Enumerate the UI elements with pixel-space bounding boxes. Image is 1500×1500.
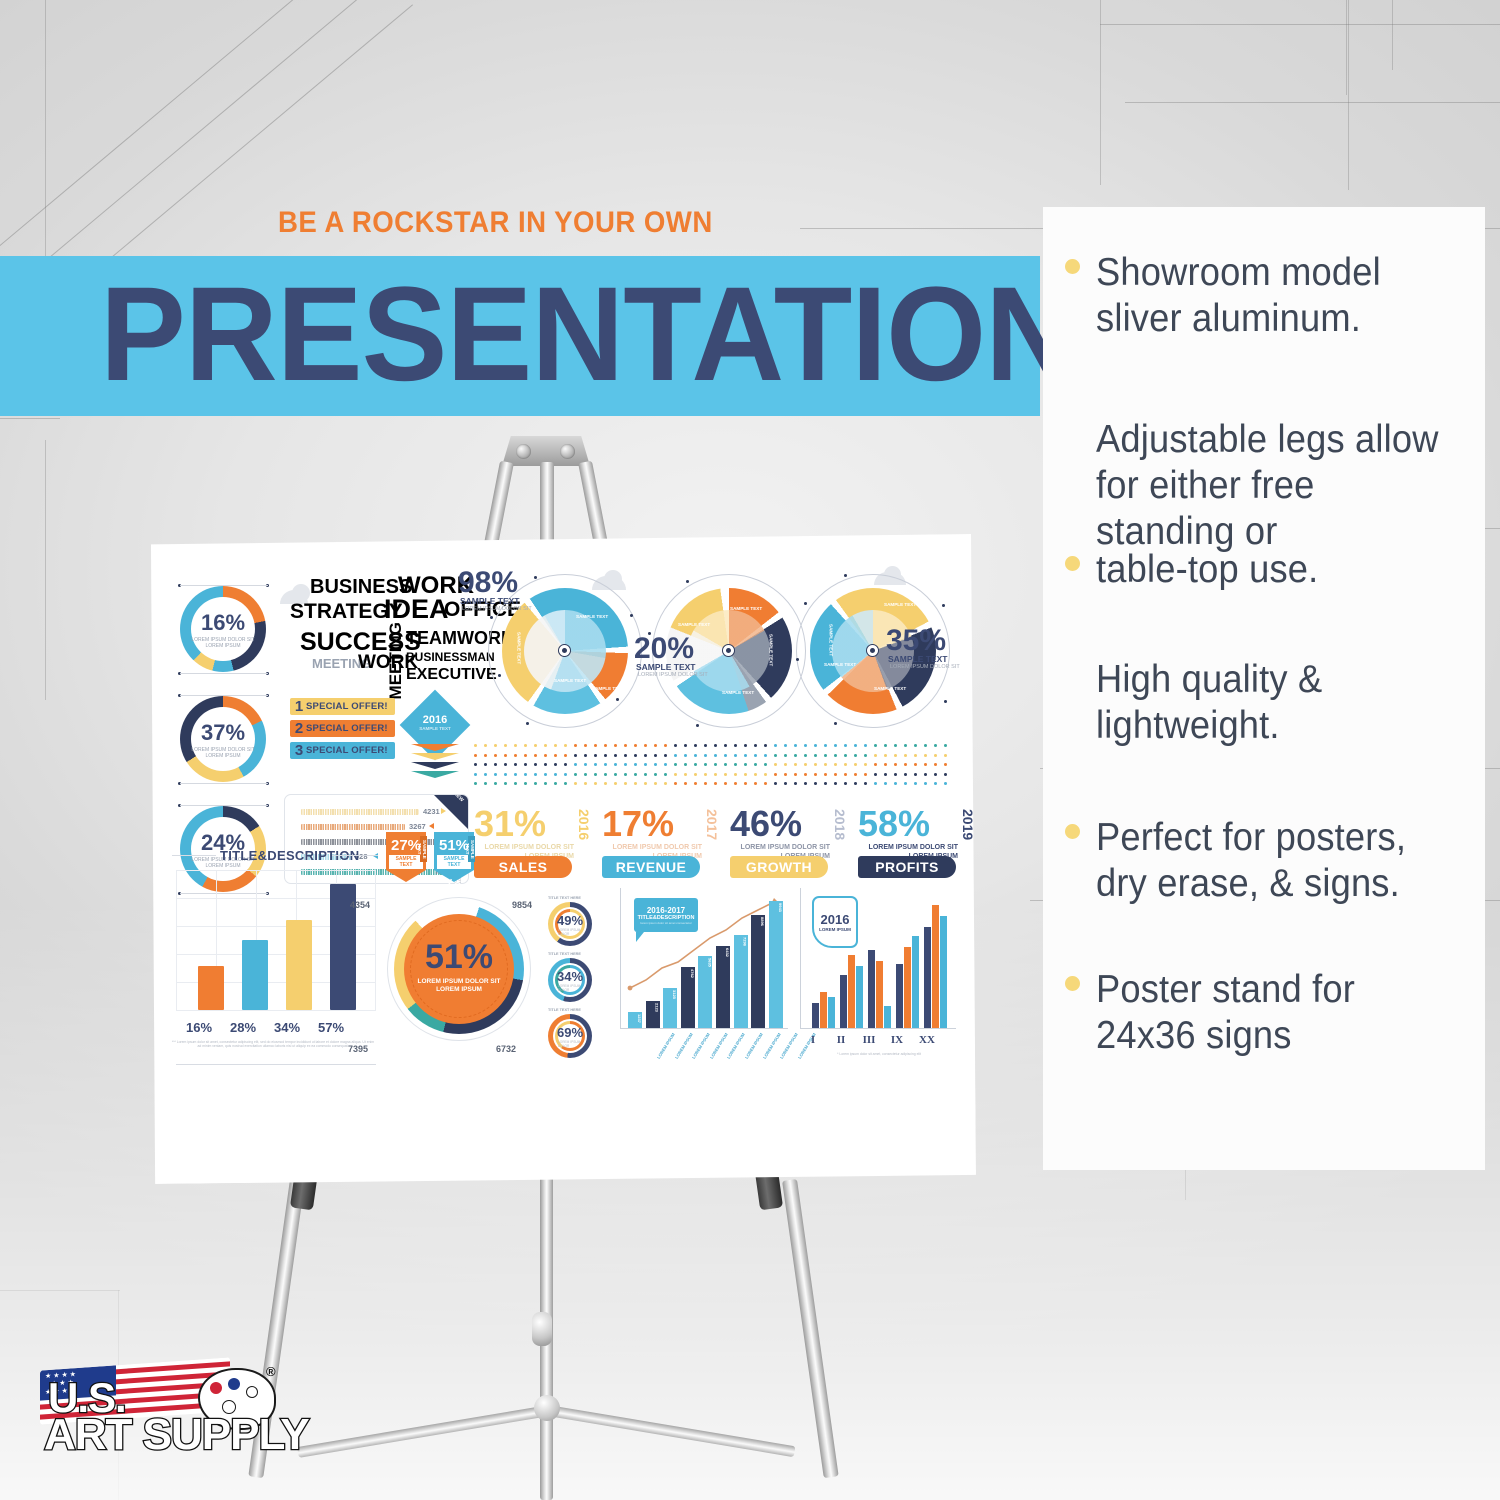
bar (840, 975, 847, 1028)
hbar-value: 3267 (409, 822, 426, 831)
matrix-dot (894, 782, 897, 785)
matrix-dot (594, 782, 597, 785)
matrix-dot (564, 754, 567, 757)
matrix-dot (784, 782, 787, 785)
matrix-dot (574, 782, 577, 785)
matrix-dot (754, 782, 757, 785)
matrix-dot (814, 754, 817, 757)
matrix-dot (814, 744, 817, 747)
donut-gauge: 16% LOREM IPSUM DOLOR SIT LOREM IPSUM (180, 586, 266, 672)
matrix-dot (784, 754, 787, 757)
radial-hub-icon (722, 644, 735, 657)
matrix-dot (824, 782, 827, 785)
matrix-dot (484, 773, 487, 776)
matrix-dot (904, 763, 907, 766)
matrix-dot (774, 754, 777, 757)
bar: 4762 (681, 967, 695, 1028)
bar: 9943 (769, 901, 783, 1028)
matrix-dot (654, 754, 657, 757)
matrix-dot (634, 744, 637, 747)
matrix-dot (904, 754, 907, 757)
matrix-dot (474, 773, 477, 776)
matrix-dot (924, 773, 927, 776)
offer-label: SPECIAL OFFER! (306, 701, 388, 712)
axis-tick: I (802, 1034, 824, 1046)
matrix-dot (494, 754, 497, 757)
bullet-dot-icon (1065, 824, 1080, 839)
matrix-dot (674, 782, 677, 785)
mini-badge-value: 69% (557, 1025, 583, 1040)
bar-label: 57% (312, 1020, 350, 1035)
matrix-dot (544, 754, 547, 757)
matrix-dot (944, 744, 947, 747)
matrix-dot (834, 782, 837, 785)
matrix-dot (884, 744, 887, 747)
matrix-dot (944, 782, 947, 785)
matrix-dot (634, 773, 637, 776)
matrix-dot (494, 782, 497, 785)
bar: 7298 (734, 935, 748, 1028)
matrix-dot (544, 763, 547, 766)
matrix-dot (794, 763, 797, 766)
matrix-dot (754, 744, 757, 747)
circle-51-corner-value: 9854 (512, 900, 532, 910)
matrix-dot (564, 744, 567, 747)
matrix-dot (484, 754, 487, 757)
registered-mark: ® (266, 1364, 276, 1379)
wordcloud-term: IDEA (384, 594, 449, 625)
year-stat-block: 46% 2018 LOREM IPSUM DOLOR SIT LOREM IPS… (730, 806, 850, 861)
matrix-dot (584, 754, 587, 757)
matrix-dot (874, 744, 877, 747)
matrix-dot (654, 744, 657, 747)
slice-label: SAMPLE TEXT (730, 606, 762, 611)
bar-value: 8896 (751, 917, 765, 926)
matrix-dot (834, 754, 837, 757)
matrix-dot (804, 773, 807, 776)
matrix-dot (664, 744, 667, 747)
matrix-dot (514, 754, 517, 757)
matrix-dot (654, 773, 657, 776)
matrix-dot (744, 744, 747, 747)
slice-label: SAMPLE TEXT (722, 690, 754, 695)
bullet-dot-icon (1065, 976, 1080, 991)
bar: 1237 (628, 1012, 642, 1028)
slice-label: SAMPLE TEXT (592, 686, 624, 691)
matrix-dot (744, 782, 747, 785)
matrix-dot (564, 782, 567, 785)
easel-knob[interactable] (560, 444, 575, 459)
matrix-dot (574, 754, 577, 757)
matrix-dot (924, 744, 927, 747)
matrix-dot (694, 744, 697, 747)
matrix-dot (804, 763, 807, 766)
bar (242, 940, 268, 1010)
bar-value: 6432 (716, 948, 730, 957)
matrix-dot (694, 763, 697, 766)
matrix-dot (944, 773, 947, 776)
radial-label: SAMPLE TEXT (636, 662, 696, 672)
matrix-dot (684, 744, 687, 747)
matrix-dot (874, 782, 877, 785)
matrix-dot (794, 782, 797, 785)
headline-kicker: BE A ROCKSTAR IN YOUR OWN (278, 206, 977, 240)
feature-item: table-top use. (1065, 547, 1465, 593)
matrix-dot (554, 763, 557, 766)
poster-artwork[interactable]: 16% LOREM IPSUM DOLOR SIT LOREM IPSUM 37… (146, 534, 976, 1184)
shield-label: SAMPLE TEXT (437, 855, 471, 869)
matrix-dot (934, 763, 937, 766)
slice-label: SAMPLE TEXT (768, 634, 773, 666)
matrix-dot (624, 744, 627, 747)
matrix-dot (614, 754, 617, 757)
bar: 8896 (751, 915, 765, 1028)
feature-text: Adjustable legs allow for either free st… (1096, 417, 1458, 555)
dot-matrix (474, 744, 954, 794)
matrix-dot (904, 782, 907, 785)
matrix-dot (924, 782, 927, 785)
matrix-dot (874, 773, 877, 776)
year-ribbon: REVENUE (602, 856, 700, 878)
hbar-value: 4231 (423, 807, 440, 816)
matrix-dot (524, 754, 527, 757)
brand-logo: ★ ★ ★ ★ ★ ★ ★ ★ ★ ★ ★ ® U.S. ART SUPPLY (30, 1360, 290, 1470)
matrix-dot (704, 744, 707, 747)
matrix-dot (784, 763, 787, 766)
year-ribbon-label: SALES (499, 859, 548, 875)
year-ribbon: SALES (474, 856, 572, 878)
mini-badge-sub: LOREM IPSUM DOLOR (558, 984, 582, 992)
matrix-dot (674, 763, 677, 766)
matrix-dot (494, 744, 497, 747)
slice-label: SAMPLE TEXT (824, 662, 856, 667)
matrix-dot (824, 754, 827, 757)
offer-row[interactable]: 1 SPECIAL OFFER! (290, 698, 395, 715)
matrix-dot (724, 744, 727, 747)
year-stat-block: 31% 2016 LOREM IPSUM DOLOR SIT LOREM IPS… (474, 806, 594, 861)
year-stat-year: 2017 (704, 809, 720, 840)
matrix-dot (894, 773, 897, 776)
matrix-dot (674, 754, 677, 757)
matrix-dot (924, 763, 927, 766)
matrix-dot (604, 754, 607, 757)
radial-hub-icon (558, 644, 571, 657)
matrix-dot (854, 782, 857, 785)
matrix-dot (584, 782, 587, 785)
bar (924, 927, 931, 1028)
mini-badge-sub: LOREM IPSUM DOLOR (558, 1040, 582, 1048)
bar (820, 992, 827, 1028)
bar (812, 1003, 819, 1028)
matrix-dot (714, 782, 717, 785)
feature-text: Poster stand for 24x36 signs (1096, 967, 1439, 1059)
offer-row[interactable]: 3 SPECIAL OFFER! (290, 742, 395, 759)
matrix-dot (764, 763, 767, 766)
easel-brace-joint (534, 1395, 560, 1421)
hbar-arrow-icon (373, 853, 378, 859)
matrix-dot (864, 773, 867, 776)
year-ribbon: GROWTH (730, 856, 828, 878)
matrix-dot (634, 754, 637, 757)
mini-badge-sub: LOREM IPSUM DOLOR (558, 928, 582, 936)
matrix-dot (474, 754, 477, 757)
year-ribbon: PROFITS (858, 856, 956, 878)
matrix-dot (794, 773, 797, 776)
offer-label: SPECIAL OFFER! (306, 745, 388, 756)
radial-value: 98% (458, 566, 518, 600)
bar-label: 28% (224, 1020, 262, 1035)
easel-knob[interactable] (516, 444, 531, 459)
gauge-value: 37% (201, 720, 245, 746)
headline-block: BE A ROCKSTAR IN YOUR OWN (278, 206, 1038, 240)
slice-label: SAMPLE TEXT (874, 686, 906, 691)
matrix-dot (774, 773, 777, 776)
matrix-dot (894, 763, 897, 766)
matrix-dot (624, 763, 627, 766)
shield-label: SAMPLE TEXT (389, 855, 423, 869)
matrix-dot (624, 754, 627, 757)
matrix-dot (844, 782, 847, 785)
circle-51-corner-value: 7395 (348, 1044, 368, 1054)
matrix-dot (914, 782, 917, 785)
feature-text: High quality & lightweight. (1096, 657, 1439, 749)
matrix-dot (734, 773, 737, 776)
matrix-dot (564, 773, 567, 776)
matrix-dot (914, 773, 917, 776)
matrix-dot (504, 763, 507, 766)
radial-label: SAMPLE TEXT (888, 654, 948, 664)
matrix-dot (774, 744, 777, 747)
matrix-dot (794, 744, 797, 747)
matrix-dot (834, 763, 837, 766)
page-title: PRESENTATION (100, 252, 1012, 417)
matrix-dot (804, 754, 807, 757)
feature-item: High quality & lightweight. (1065, 657, 1465, 749)
matrix-dot (494, 773, 497, 776)
matrix-dot (744, 763, 747, 766)
matrix-dot (634, 782, 637, 785)
mini-badge-caption: TITLE TEXT HERE (548, 1008, 581, 1012)
matrix-dot (544, 782, 547, 785)
matrix-dot (884, 782, 887, 785)
matrix-dot (714, 763, 717, 766)
bar (912, 936, 919, 1028)
axis-tick: IX (886, 1034, 908, 1046)
matrix-dot (474, 782, 477, 785)
matrix-dot (524, 782, 527, 785)
matrix-dot (474, 763, 477, 766)
year-ribbon-label: REVENUE (616, 859, 686, 875)
bar: 5635 (698, 956, 712, 1028)
matrix-dot (784, 773, 787, 776)
matrix-dot (804, 782, 807, 785)
matrix-dot (934, 744, 937, 747)
matrix-dot (694, 754, 697, 757)
radial-label: SAMPLE TEXT (460, 596, 520, 606)
matrix-dot (814, 773, 817, 776)
matrix-dot (554, 782, 557, 785)
diamond-sub: SAMPLE TEXT (411, 726, 459, 731)
year-stat-block: 58% 2019 LOREM IPSUM DOLOR SIT LOREM IPS… (858, 806, 976, 861)
matrix-dot (534, 773, 537, 776)
gauge-sub: LOREM IPSUM DOLOR SIT LOREM IPSUM (191, 747, 255, 759)
mini-badge: 34% LOREM IPSUM DOLOR (548, 958, 592, 1002)
mini-badge: 49% LOREM IPSUM DOLOR (548, 902, 592, 946)
matrix-dot (624, 782, 627, 785)
matrix-dot (474, 744, 477, 747)
matrix-dot (604, 782, 607, 785)
matrix-dot (714, 773, 717, 776)
matrix-dot (734, 754, 737, 757)
matrix-dot (764, 773, 767, 776)
matrix-dot (774, 782, 777, 785)
matrix-dot (724, 754, 727, 757)
matrix-dot (864, 754, 867, 757)
gauge-sub: LOREM IPSUM DOLOR SIT LOREM IPSUM (191, 637, 255, 649)
matrix-dot (494, 763, 497, 766)
matrix-dot (664, 763, 667, 766)
chart-footnote: *** Lorem ipsum dolor sit amet, consecte… (170, 1040, 376, 1049)
donut-gauge: 37% LOREM IPSUM DOLOR SIT LOREM IPSUM (180, 696, 266, 782)
bar-label: 16% (180, 1020, 218, 1035)
bar-value: 4762 (681, 969, 695, 978)
diamond-layer (411, 771, 459, 778)
matrix-dot (854, 763, 857, 766)
radial-sub: LOREM IPSUM DOLOR SIT (462, 606, 532, 613)
matrix-dot (534, 744, 537, 747)
matrix-dot (604, 773, 607, 776)
bullet-dot-icon (1065, 259, 1080, 274)
bar (868, 950, 875, 1028)
hbar-arrow-icon (441, 808, 446, 814)
matrix-dot (904, 744, 907, 747)
matrix-dot (704, 782, 707, 785)
radial-value: 35% (886, 624, 946, 658)
matrix-dot (644, 744, 647, 747)
matrix-dot (824, 773, 827, 776)
year-tag-value: 2016 (821, 912, 850, 927)
matrix-dot (574, 744, 577, 747)
matrix-dot (894, 744, 897, 747)
matrix-dot (844, 773, 847, 776)
mini-badge-caption: TITLE TEXT HERE (548, 896, 581, 900)
matrix-dot (814, 763, 817, 766)
matrix-dot (504, 782, 507, 785)
matrix-dot (734, 763, 737, 766)
matrix-dot (754, 773, 757, 776)
bar (896, 964, 903, 1028)
slice-label: SAMPLE TEXT (576, 614, 608, 619)
year-stat-value: 58% (858, 806, 976, 842)
matrix-dot (484, 763, 487, 766)
bar (198, 966, 224, 1010)
diamond-year: 2016 (411, 714, 459, 726)
matrix-dot (714, 744, 717, 747)
matrix-dot (644, 763, 647, 766)
bar-value: 9943 (769, 903, 783, 912)
bar (848, 955, 855, 1028)
matrix-dot (704, 763, 707, 766)
matrix-dot (604, 763, 607, 766)
easel-mast-collar (532, 1312, 552, 1346)
matrix-dot (664, 782, 667, 785)
matrix-dot (834, 773, 837, 776)
year-tag-sub: LOREM IPSUM (819, 927, 851, 932)
matrix-dot (574, 773, 577, 776)
feature-item: Showroom model sliver aluminum. (1065, 250, 1465, 342)
circle-51-corner-value: 4354 (350, 900, 370, 910)
matrix-dot (624, 773, 627, 776)
slice-label: SAMPLE TEXT (554, 678, 586, 683)
matrix-dot (564, 763, 567, 766)
offer-label: SPECIAL OFFER! (306, 723, 388, 734)
matrix-dot (614, 744, 617, 747)
matrix-dot (924, 754, 927, 757)
matrix-dot (674, 744, 677, 747)
bar: 3125 (663, 988, 677, 1028)
matrix-dot (854, 754, 857, 757)
matrix-dot (594, 744, 597, 747)
bar-value: 5635 (698, 958, 712, 967)
matrix-dot (884, 763, 887, 766)
matrix-dot (614, 763, 617, 766)
matrix-dot (914, 763, 917, 766)
matrix-dot (744, 773, 747, 776)
circle-51-corner-value: 6732 (496, 1044, 516, 1054)
matrix-dot (594, 773, 597, 776)
matrix-dot (594, 754, 597, 757)
matrix-dot (934, 754, 937, 757)
bar (904, 947, 911, 1028)
matrix-dot (794, 754, 797, 757)
matrix-dot (934, 782, 937, 785)
matrix-dot (654, 763, 657, 766)
mini-badge-value: 34% (557, 969, 583, 984)
matrix-dot (844, 744, 847, 747)
matrix-dot (684, 773, 687, 776)
year-ribbon-label: GROWTH (746, 859, 812, 875)
matrix-dot (644, 773, 647, 776)
gauge-value: 16% (201, 610, 245, 636)
axis-tick: XX (914, 1034, 940, 1046)
matrix-dot (584, 744, 587, 747)
matrix-dot (864, 782, 867, 785)
offer-row[interactable]: 2 SPECIAL OFFER! (290, 720, 395, 737)
matrix-dot (644, 754, 647, 757)
matrix-dot (784, 744, 787, 747)
circle-51-sub: LOREM IPSUM DOLOR SIT LOREM IPSUM (408, 978, 510, 994)
slice-label: SAMPLE TEXT (884, 602, 916, 607)
slice-label: SAMPLE TEXT (678, 622, 710, 627)
year-tag: 2016 LOREM IPSUM (812, 896, 858, 948)
matrix-dot (504, 744, 507, 747)
matrix-dot (684, 754, 687, 757)
matrix-dot (514, 773, 517, 776)
matrix-dot (704, 773, 707, 776)
mini-badge-value: 49% (557, 913, 583, 928)
bar (940, 916, 947, 1028)
matrix-dot (774, 763, 777, 766)
matrix-dot (664, 773, 667, 776)
matrix-dot (844, 763, 847, 766)
year-stat-year: 2016 (576, 809, 592, 840)
matrix-dot (824, 744, 827, 747)
matrix-dot (524, 773, 527, 776)
matrix-dot (914, 754, 917, 757)
logo-line-2: ART SUPPLY (44, 1410, 309, 1460)
diamond-layer (411, 762, 459, 769)
year-stat-block: 17% 2017 LOREM IPSUM DOLOR SIT LOREM IPS… (602, 806, 722, 861)
